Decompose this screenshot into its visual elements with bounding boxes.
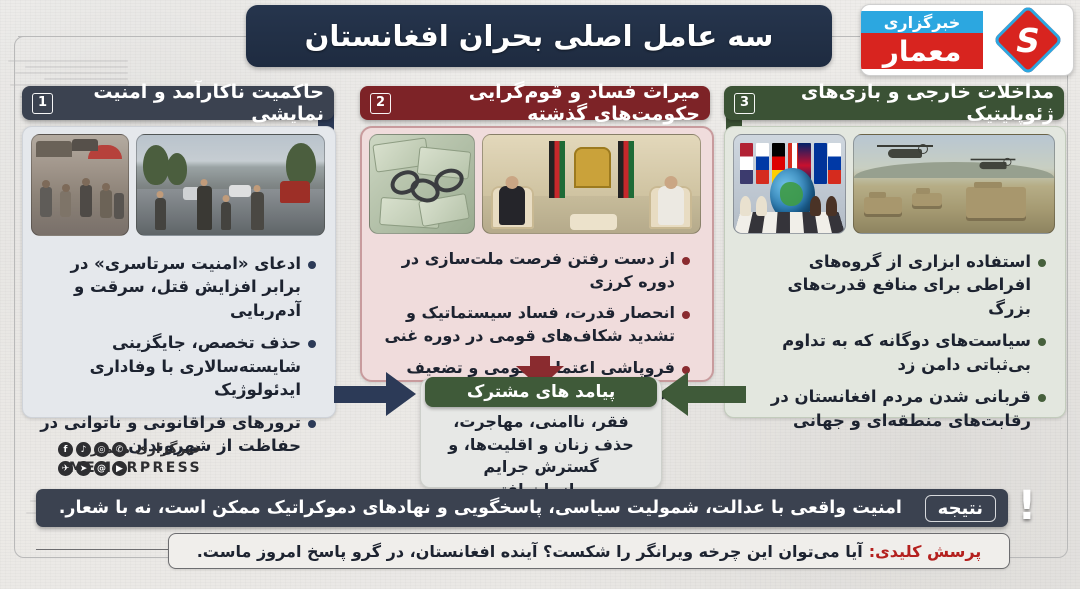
- logo-bottom-text: معمار: [861, 33, 983, 69]
- taliban-street-patrol-photo: [136, 134, 325, 236]
- panel3-title: مداخلات خارجی و بازی‌های ژئوپلیتیک: [764, 81, 1054, 125]
- page-title: سه عامل اصلی بحران افغانستان: [246, 5, 832, 67]
- logo-top-text: خبرگزاری: [861, 11, 983, 33]
- logo-wordmark: خبرگزاری معمار: [861, 11, 983, 69]
- panel2-photos: [369, 134, 701, 232]
- panel1-header: حاکمیت ناکارآمد و امنیت نمایشی 1: [22, 86, 334, 120]
- conclusion-bar: ! نتیجه امنیت واقعی با عدالت، شمولیت سیا…: [36, 489, 1008, 527]
- shared-consequences-title: پیامد های مشترک: [425, 377, 657, 407]
- exclamation-icon: !: [1018, 483, 1036, 529]
- tiktok-icon[interactable]: ♪: [76, 442, 91, 457]
- key-question-label: پرسش کلیدی:: [869, 542, 982, 561]
- facebook-icon[interactable]: f: [58, 442, 73, 457]
- messenger-icon[interactable]: ✈: [58, 461, 73, 476]
- broken-chain-dollars-photo: [369, 134, 475, 234]
- whatsapp-icon[interactable]: ✆: [112, 442, 127, 457]
- conclusion-text: امنیت واقعی با عدالت، شمولیت سیاسی، پاسخ…: [36, 498, 925, 518]
- brand-logo[interactable]: S خبرگزاری معمار: [860, 4, 1074, 76]
- youtube-icon[interactable]: ▶: [112, 461, 127, 476]
- list-item: انحصار قدرت، فساد سیستماتیک و تشدید شکاف…: [380, 302, 692, 347]
- list-item: قربانی شدن مردم افغانستان در رقابت‌های م…: [742, 385, 1048, 432]
- page-title-text: سه عامل اصلی بحران افغانستان: [305, 19, 774, 53]
- panel3-photos: [733, 134, 1055, 232]
- military-convoy-helicopters-photo: [853, 134, 1055, 234]
- panel1-number-badge: 1: [32, 93, 53, 114]
- panel-foreign-interference: مداخلات خارجی و بازی‌های ژئوپلیتیک 3: [724, 86, 1064, 416]
- panel-corruption-legacy: میراث فساد و قوم‌گرایی حکومت‌های گذشته 2: [360, 86, 710, 378]
- list-item: استفاده ابزاری از گروه‌های افراطی برای م…: [742, 250, 1048, 320]
- infographic-canvas: سه عامل اصلی بحران افغانستان S خبرگزاری …: [0, 0, 1080, 589]
- panel-governance: حاکمیت ناکارآمد و امنیت نمایشی 1: [22, 86, 334, 416]
- shared-consequences-box: پیامد های مشترک فقر، ناامنی، مهاجرت، حذف…: [420, 378, 662, 488]
- key-question-text: آیا می‌توان این چرخه ویرانگر را شکست؟ آی…: [197, 542, 863, 561]
- karzai-ghani-meeting-photo: [482, 134, 701, 234]
- panel2-title: میراث فساد و قوم‌گرایی حکومت‌های گذشته: [400, 81, 700, 125]
- panel2-header: میراث فساد و قوم‌گرایی حکومت‌های گذشته 2: [360, 86, 710, 120]
- flags-globe-chessboard-photo: [733, 134, 846, 234]
- key-question-bar: پرسش کلیدی: آیا می‌توان این چرخه ویرانگر…: [168, 533, 1010, 569]
- memar-logo-mark-icon: S: [989, 11, 1067, 69]
- telegram-icon[interactable]: ➤: [76, 461, 91, 476]
- credit-block: خبرگزاری معمار MEMARPRESS f ♪ ◎ ✆ ✈ ➤ @ …: [58, 440, 278, 482]
- header-rule: [18, 36, 244, 37]
- instagram-icon[interactable]: ◎: [94, 442, 109, 457]
- conclusion-label: نتیجه: [925, 495, 996, 522]
- arrow-from-panel1: [334, 372, 422, 416]
- panel3-number-badge: 3: [734, 93, 755, 114]
- panel2-number-badge: 2: [370, 93, 391, 114]
- arrow-from-panel3: [658, 372, 746, 416]
- list-item: حذف تخصص، جایگزینی شایسته‌سالاری با وفاد…: [40, 331, 318, 401]
- crowded-bazaar-photo: [31, 134, 129, 236]
- list-item: ادعای «امنیت سرتاسری» در برابر افزایش قت…: [40, 252, 318, 322]
- question-connector-line: [36, 549, 170, 550]
- panel3-bullets: استفاده ابزاری از گروه‌های افراطی برای م…: [728, 240, 1060, 451]
- list-item: از دست رفتن فرصت ملت‌سازی در دوره کرزی: [380, 248, 692, 293]
- panel1-title: حاکمیت ناکارآمد و امنیت نمایشی: [62, 81, 324, 125]
- panel1-photos: [31, 134, 325, 234]
- threads-icon[interactable]: @: [94, 461, 109, 476]
- panel3-header: مداخلات خارجی و بازی‌های ژئوپلیتیک 3: [724, 86, 1064, 120]
- list-item: سیاست‌های دوگانه که به تداوم بی‌ثباتی دا…: [742, 329, 1048, 376]
